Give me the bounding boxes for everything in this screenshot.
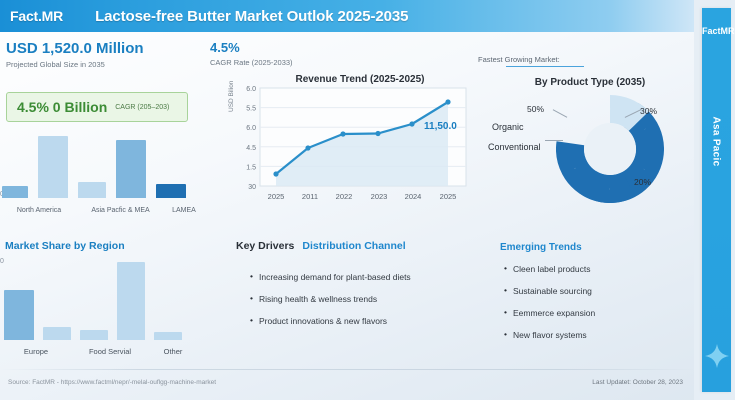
axis-tick-label: Other [148, 347, 198, 356]
axis-tick-label: LAMEA [163, 207, 205, 214]
fastest-growing-market-label: Fastest Growing Market: [478, 55, 560, 64]
donut-legend-conventional: Conventional [488, 142, 541, 152]
list-item: New flavor systems [504, 330, 595, 340]
rail-region-label: Asa Pacic [711, 102, 722, 182]
distribution-channel-title: Distribution Channel [302, 240, 405, 252]
kpi-projected-size: USD 1,520.0 Million [6, 40, 144, 57]
header-bar: Fact.MR Lactose-free Butter Market Outlo… [0, 0, 694, 32]
key-drivers-list: Increasing demand for plant-based diets … [250, 272, 411, 338]
page-title: Lactose-free Butter Market Outlok 2025-2… [95, 8, 408, 25]
donut-leader-line [545, 140, 563, 141]
svg-text:2022: 2022 [336, 192, 353, 201]
bar-item [38, 136, 68, 198]
axis-tick-label: Asia Pacfic & MEA [78, 207, 163, 214]
svg-text:2025: 2025 [440, 192, 457, 201]
bar-item [117, 262, 145, 340]
market-share-title: Market Share by Region [5, 240, 125, 252]
donut-slice-label-30: 30% [640, 106, 657, 116]
bar-item [156, 184, 186, 198]
footer-last-updated: Last Updatet: October 28, 2023 [592, 379, 683, 386]
market-share-bar-chart: 0 Europe Food Servial Other [0, 256, 205, 356]
infographic-canvas: Fact.MR Lactose-free Butter Market Outlo… [0, 0, 735, 400]
market-share-bars [2, 260, 202, 340]
bar-item [116, 140, 146, 198]
donut-slice-label-50: 50% [527, 104, 544, 114]
cagr-highlight-value: 4.5% 0 Billion [17, 99, 107, 115]
region-bar-chart-ticks: North America Asia Pacfic & MEA LAMEA [0, 207, 205, 214]
cagr-highlight-caption: CAGR (205–203) [115, 104, 169, 111]
donut-slice-label-20: 20% [634, 177, 651, 187]
svg-text:4.5: 4.5 [246, 145, 256, 152]
revenue-trend-point-label: 11,50.0 [424, 121, 457, 132]
key-drivers-header: Key Drivers Distribution Channel [236, 240, 406, 252]
bar-item [154, 332, 182, 340]
fastest-growing-underline [506, 66, 584, 67]
svg-text:6.0: 6.0 [246, 125, 256, 132]
right-rail-panel: FactMR Asa Pacic [702, 8, 731, 392]
revenue-trend-chart: 6.0 5.5 6.0 4.5 1.5 30 2025 2011 2022 [232, 86, 470, 217]
cagr-rate-value: 4.5% [210, 40, 240, 55]
cagr-highlight-box: 4.5% 0 Billion CAGR (205–203) [6, 92, 188, 122]
market-share-ticks: Europe Food Servial Other [0, 347, 205, 356]
emerging-trends-list: Cleen label products Sustainable sourcin… [504, 264, 595, 352]
footer-source: Source: FactMR - https://www.factml/nepr… [8, 379, 216, 386]
product-type-donut-title: By Product Type (2035) [500, 77, 680, 88]
key-drivers-title: Key Drivers [236, 240, 294, 252]
bar-item [43, 327, 71, 340]
bar-item [80, 330, 108, 340]
list-item: Cleen label products [504, 264, 595, 274]
region-bar-chart: 0 North America Asia Pacfic & MEA LAMEA [0, 128, 200, 216]
rail-brand-label: FactMR [702, 26, 731, 36]
brand-logo: Fact.MR [0, 8, 63, 24]
donut-legend-organic: Organic [492, 122, 524, 132]
sparkle-icon [704, 343, 730, 374]
axis-tick-label: North America [0, 207, 78, 214]
revenue-trend-title: Revenue Trend (2025-2025) [250, 74, 470, 85]
region-bar-chart-bars [0, 136, 200, 198]
list-item: Eemmerce expansion [504, 308, 595, 318]
svg-text:1.5: 1.5 [246, 164, 256, 171]
bar-item [78, 182, 106, 198]
list-item: Sustainable sourcing [504, 286, 595, 296]
bar-item [2, 186, 28, 198]
svg-text:2025: 2025 [268, 192, 285, 201]
svg-text:30: 30 [248, 184, 256, 191]
footer-divider [0, 369, 694, 370]
axis-tick-label: Europe [0, 347, 72, 356]
kpi-projected-size-caption: Projected Global Size in 2035 [6, 60, 105, 69]
list-item: Increasing demand for plant-based diets [250, 272, 411, 282]
svg-text:5.5: 5.5 [246, 106, 256, 113]
svg-text:2024: 2024 [405, 192, 422, 201]
bar-item [4, 290, 34, 340]
svg-text:2023: 2023 [371, 192, 388, 201]
svg-text:6.0: 6.0 [246, 86, 256, 93]
svg-text:2011: 2011 [302, 192, 318, 201]
cagr-rate-caption: CAGR Rate (2025-2033) [210, 58, 293, 67]
right-rail: FactMR Asa Pacic [694, 0, 735, 400]
list-item: Product innovations & new flavors [250, 316, 411, 326]
emerging-trends-title: Emerging Trends [500, 242, 582, 253]
axis-tick-label: Food Servial [72, 347, 148, 356]
list-item: Rising health & wellness trends [250, 294, 411, 304]
